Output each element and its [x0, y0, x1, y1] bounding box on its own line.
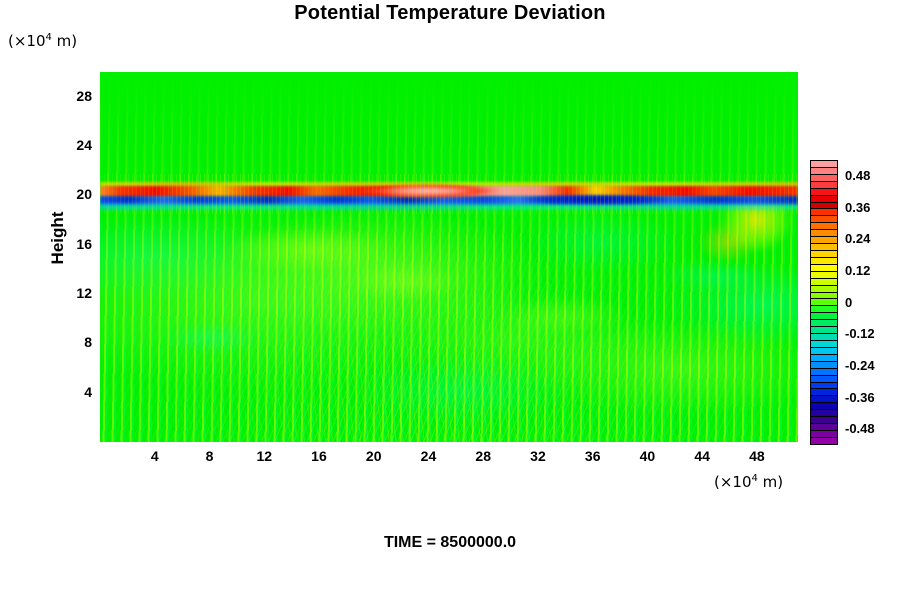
colorbar-swatch — [811, 196, 837, 203]
colorbar-swatch — [811, 369, 837, 376]
x-axis-tick: 28 — [463, 448, 503, 464]
colorbar-swatch — [811, 389, 837, 396]
colorbar-swatch — [811, 417, 837, 424]
x-axis-tick: 8 — [189, 448, 229, 464]
x-axis-tick: 12 — [244, 448, 284, 464]
colorbar-swatch — [811, 244, 837, 251]
colorbar-swatch — [811, 216, 837, 223]
colorbar-swatch — [811, 410, 837, 417]
y-axis-tick: 4 — [32, 384, 92, 400]
colorbar-swatch — [811, 376, 837, 383]
x-axis-tick: 40 — [627, 448, 667, 464]
colorbar-swatch — [811, 306, 837, 313]
colorbar-swatch — [811, 348, 837, 355]
band-speckle-layer — [100, 174, 798, 215]
colorbar-swatch — [811, 203, 837, 210]
tropopause-ripple-layer — [100, 72, 798, 442]
colorbar-swatch — [811, 237, 837, 244]
colorbar-swatch — [811, 293, 837, 300]
time-annotation: TIME = 8500000.0 — [0, 534, 900, 552]
colorbar-swatch — [811, 424, 837, 431]
y-axis-tick: 16 — [32, 236, 92, 252]
y-axis-tick: 8 — [32, 334, 92, 350]
colorbar-tick: 0.48 — [845, 168, 870, 183]
colorbar — [810, 160, 838, 445]
colorbar-swatch — [811, 299, 837, 306]
x-axis-tick: 20 — [354, 448, 394, 464]
y-axis-unit-label: (×104 m) — [8, 32, 77, 50]
colorbar-swatch — [811, 161, 837, 168]
colorbar-swatch — [811, 258, 837, 265]
colorbar-swatch — [811, 396, 837, 403]
colorbar-swatch — [811, 251, 837, 258]
colorbar-tick: 0.24 — [845, 231, 870, 246]
x-axis-tick: 24 — [408, 448, 448, 464]
x-axis-tick: 32 — [518, 448, 558, 464]
x-axis-tick: 36 — [573, 448, 613, 464]
x-axis-tick: 16 — [299, 448, 339, 464]
colorbar-swatch — [811, 383, 837, 390]
colorbar-swatch — [811, 313, 837, 320]
colorbar-swatch — [811, 334, 837, 341]
colorbar-swatch — [811, 279, 837, 286]
x-axis-tick: 4 — [135, 448, 175, 464]
colorbar-tick: -0.12 — [845, 326, 875, 341]
colorbar-swatch — [811, 286, 837, 293]
colorbar-tick: 0 — [845, 295, 852, 310]
colorbar-swatch — [811, 230, 837, 237]
y-unit-suffix: m) — [52, 32, 77, 50]
x-axis-tick: 44 — [682, 448, 722, 464]
colorbar-swatch — [811, 355, 837, 362]
colorbar-swatch — [811, 272, 837, 279]
colorbar-swatch — [811, 320, 837, 327]
colorbar-swatch — [811, 403, 837, 410]
colorbar-tick: -0.24 — [845, 358, 875, 373]
colorbar-swatch — [811, 438, 837, 444]
colorbar-swatch — [811, 431, 837, 438]
colorbar-tick: -0.36 — [845, 390, 875, 405]
colorbar-swatch — [811, 362, 837, 369]
colorbar-swatch — [811, 223, 837, 230]
x-unit-suffix: m) — [758, 473, 783, 491]
page-title: Potential Temperature Deviation — [0, 2, 900, 25]
heatmap-plot-area — [100, 72, 798, 442]
colorbar-swatch — [811, 168, 837, 175]
colorbar-swatch — [811, 265, 837, 272]
y-axis-tick: 12 — [32, 285, 92, 301]
colorbar-tick: -0.48 — [845, 421, 875, 436]
colorbar-tick: 0.36 — [845, 200, 870, 215]
y-axis-tick: 28 — [32, 88, 92, 104]
x-axis-unit-label: (×104 m) — [714, 473, 783, 491]
y-axis-tick: 24 — [32, 137, 92, 153]
colorbar-swatch — [811, 182, 837, 189]
y-axis-tick: 20 — [32, 186, 92, 202]
x-axis-tick: 48 — [737, 448, 777, 464]
colorbar-swatch — [811, 341, 837, 348]
colorbar-tick: 0.12 — [845, 263, 870, 278]
figure-canvas: Potential Temperature Deviation (×104 m)… — [0, 0, 900, 600]
colorbar-swatch — [811, 175, 837, 182]
colorbar-swatch — [811, 327, 837, 334]
x-unit-prefix: (×10 — [714, 473, 752, 491]
colorbar-swatch — [811, 189, 837, 196]
y-unit-prefix: (×10 — [8, 32, 46, 50]
colorbar-swatch — [811, 209, 837, 216]
